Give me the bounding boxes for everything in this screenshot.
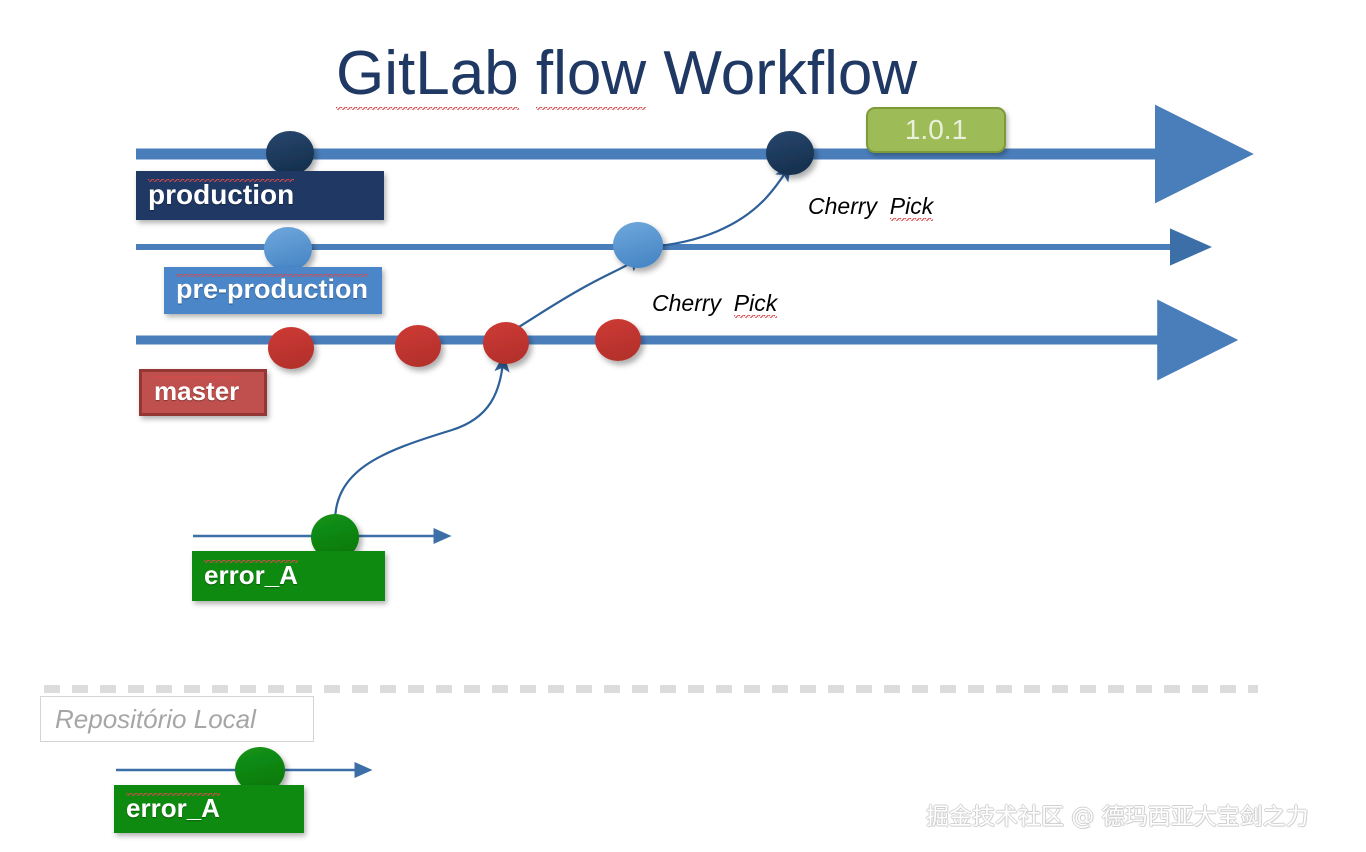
production-commit-dot[interactable] <box>766 131 814 175</box>
cherry-pick-bottom-space <box>727 290 733 316</box>
branch-label-error-a-remote[interactable]: error_A <box>192 551 385 601</box>
version-tag-badge[interactable]: 1.0.1 <box>866 107 1006 153</box>
local-repository-box: Repositório Local <box>40 696 314 742</box>
production-commit-dot[interactable] <box>266 131 314 175</box>
pre-production-commit-dot[interactable] <box>264 227 312 271</box>
title-space-2 <box>646 39 663 108</box>
local-repository-label: Repositório Local <box>55 704 256 735</box>
version-tag-label: 1.0.1 <box>905 114 967 146</box>
branch-label-production-text: production <box>148 179 294 213</box>
annotation-cherry-pick-bottom: Cherry Pick <box>652 290 777 317</box>
branch-label-error-a-local[interactable]: error_A <box>114 785 304 833</box>
branch-label-error-a-remote-text: error_A <box>204 560 298 593</box>
branch-label-master-text: master <box>154 376 239 409</box>
cherry-pick-curve-preproduction-to-production <box>648 170 787 247</box>
title-word-workflow: Workflow <box>663 39 917 108</box>
watermark-text: 掘金技术社区 @ 德玛西亚大宝剑之力 <box>926 797 1309 831</box>
master-commit-dot[interactable] <box>483 322 529 364</box>
cherry-pick-top-word-1: Cherry <box>808 193 877 219</box>
master-commit-dot[interactable] <box>268 327 314 369</box>
branch-label-production[interactable]: production <box>136 171 384 220</box>
cherry-pick-top-word-2: Pick <box>890 193 933 221</box>
pre-production-commit-dot[interactable] <box>613 222 663 268</box>
cherry-pick-top-space <box>883 193 889 219</box>
merge-curve-error-a-to-master <box>335 362 503 528</box>
title-space-1 <box>519 39 536 108</box>
title-word-gitlab: GitLab <box>336 39 519 110</box>
cherry-pick-bottom-word-2: Pick <box>734 290 777 318</box>
branch-label-pre-production-text: pre-production <box>176 274 368 307</box>
title-word-flow: flow <box>536 39 646 110</box>
master-commit-dot[interactable] <box>595 319 641 361</box>
slide-canvas: GitLab flow Workflow 1.0.1 production pr… <box>0 0 1366 852</box>
cherry-pick-bottom-word-1: Cherry <box>652 290 721 316</box>
page-title: GitLab flow Workflow <box>336 38 917 109</box>
annotation-cherry-pick-top: Cherry Pick <box>808 193 933 220</box>
master-commit-dot[interactable] <box>395 325 441 367</box>
branch-label-master[interactable]: master <box>139 369 267 416</box>
branch-label-pre-production[interactable]: pre-production <box>164 267 382 314</box>
branch-label-error-a-local-text: error_A <box>126 793 220 826</box>
